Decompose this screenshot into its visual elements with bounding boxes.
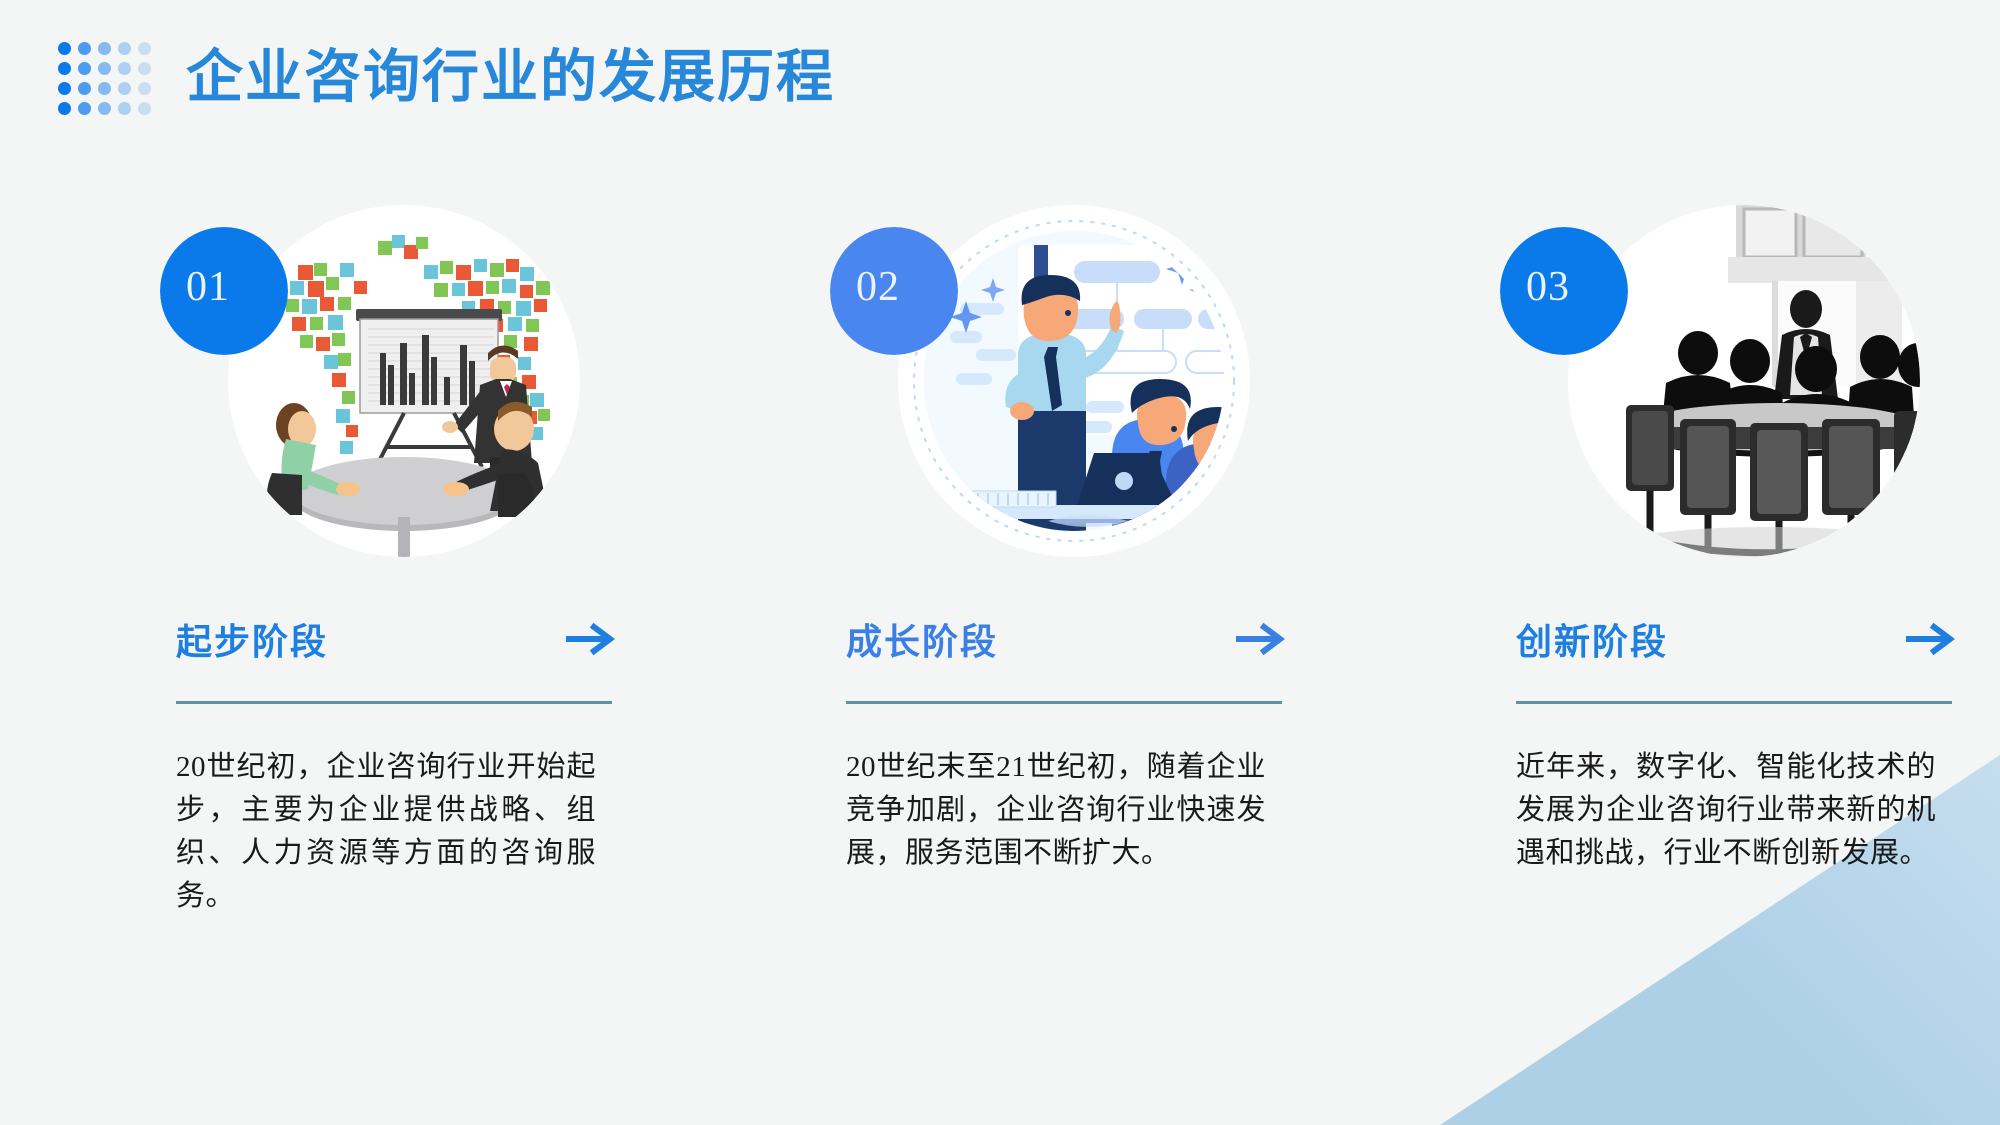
card-media-1: 01 [160, 205, 580, 565]
arrow-right-icon[interactable] [566, 622, 616, 656]
page-title: 企业咨询行业的发展历程 [186, 46, 835, 110]
card-body-2: 20世纪末至21世纪初，随着企业竞争加剧，企业咨询行业快速发展，服务范围不断扩大… [846, 746, 1266, 875]
cards-container: 01 起步阶段 20世纪初，企业咨询行业开始起步，主要为企业提供战略、组织、人力… [0, 205, 2000, 918]
card-number-2: 02 [856, 263, 900, 311]
card-header-1: 起步阶段 [176, 613, 616, 665]
card-header-3: 创新阶段 [1516, 613, 1956, 665]
card-image-2 [898, 205, 1250, 557]
card-image-1 [228, 205, 580, 557]
card-title-2: 成长阶段 [846, 613, 998, 665]
card-divider-3 [1516, 701, 1952, 704]
stage-card-1[interactable]: 01 起步阶段 20世纪初，企业咨询行业开始起步，主要为企业提供战略、组织、人力… [160, 205, 660, 918]
business-presentation-illustration [228, 205, 580, 557]
card-media-3: 03 [1500, 205, 1920, 565]
card-title-1: 起步阶段 [176, 613, 328, 665]
card-number-badge-3: 03 [1500, 227, 1628, 355]
stage-card-3[interactable]: 03 创新阶段 近年来，数字化、智能化技术的发展为企业咨询行业带来新的机遇和挑战… [1500, 205, 2000, 918]
slide-header: 企业咨询行业的发展历程 [58, 38, 835, 118]
boardroom-silhouette-photo [1568, 205, 1920, 557]
card-number-3: 03 [1526, 263, 1570, 311]
card-number-badge-2: 02 [830, 227, 958, 355]
team-meeting-illustration [898, 205, 1250, 557]
card-image-3 [1568, 205, 1920, 557]
stage-card-2[interactable]: 02 成长阶段 20世纪末至21世纪初，随着企业竞争加剧，企业咨询行业快速发展，… [830, 205, 1330, 918]
card-divider-2 [846, 701, 1282, 704]
card-number-badge-1: 01 [160, 227, 288, 355]
card-divider-1 [176, 701, 612, 704]
card-title-3: 创新阶段 [1516, 613, 1668, 665]
dot-grid-icon [58, 42, 154, 118]
card-number-1: 01 [186, 263, 230, 311]
card-header-2: 成长阶段 [846, 613, 1286, 665]
card-body-1: 20世纪初，企业咨询行业开始起步，主要为企业提供战略、组织、人力资源等方面的咨询… [176, 746, 596, 918]
slide-root: 企业咨询行业的发展历程 [0, 0, 2000, 1125]
card-body-3: 近年来，数字化、智能化技术的发展为企业咨询行业带来新的机遇和挑战，行业不断创新发… [1516, 746, 1936, 875]
arrow-right-icon[interactable] [1236, 622, 1286, 656]
arrow-right-icon[interactable] [1906, 622, 1956, 656]
card-media-2: 02 [830, 205, 1250, 565]
